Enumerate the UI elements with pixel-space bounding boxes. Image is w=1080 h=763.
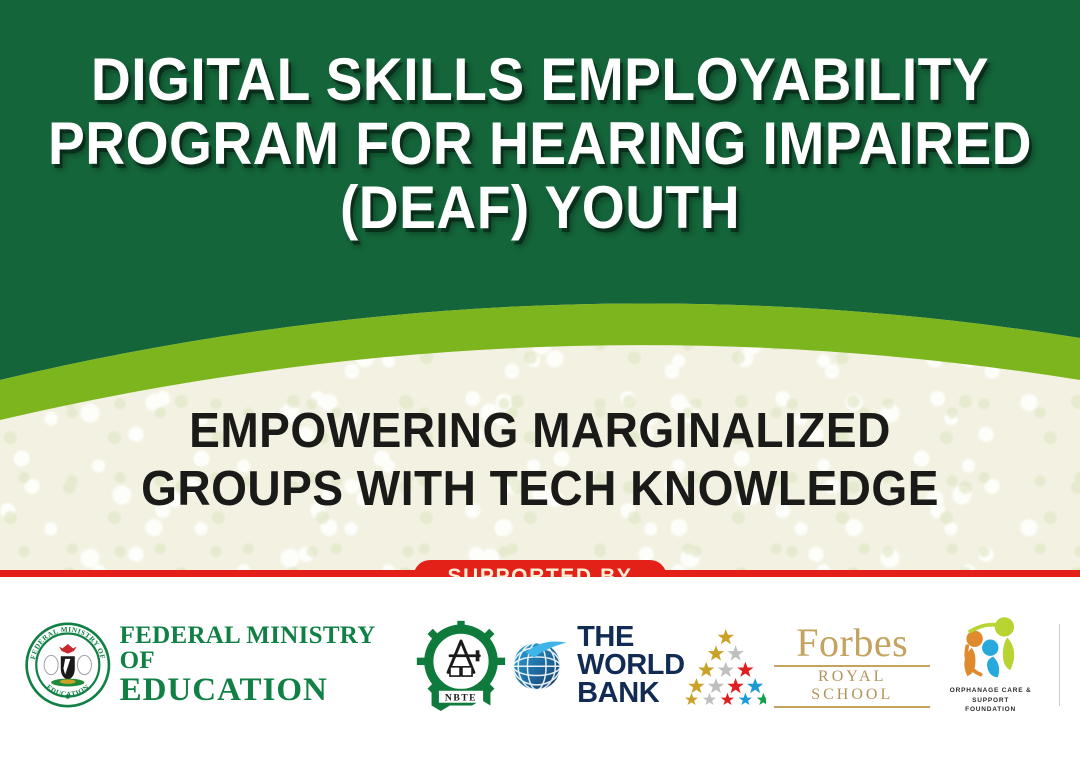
wb-line-1: THE <box>577 623 685 651</box>
subtitle-line-2: GROUPS WITH TECH KNOWLEDGE <box>32 460 1047 518</box>
sponsor-nbte[interactable]: NBTE <box>415 619 507 711</box>
world-bank-wordmark: THE WORLD BANK <box>577 623 685 707</box>
sponsor-logo-row: FEDERAL MINISTRY OF EDUCATION <box>24 615 1060 715</box>
fme-line-2: EDUCATION <box>120 674 416 708</box>
subtitle: EMPOWERING MARGINALIZED GROUPS WITH TECH… <box>32 402 1047 518</box>
nbte-label: NBTE <box>445 692 477 703</box>
sponsor-forbes-royal-school[interactable]: Forbes ROYAL SCHOOL <box>685 623 931 708</box>
sponsor-orphanage-care-support-foundation[interactable]: ORPHANAGE CARE & SUPPORT FOUNDATION <box>930 615 1060 715</box>
sponsor-footer: FEDERAL MINISTRY OF EDUCATION <box>0 577 1080 763</box>
nbte-gear-icon: NBTE <box>415 619 507 711</box>
federal-ministry-wordmark: FEDERAL MINISTRY OF EDUCATION <box>120 623 416 708</box>
page-title: DIGITAL SKILLS EMPLOYABILITY PROGRAM FOR… <box>43 48 1037 240</box>
federal-ministry-seal-icon: FEDERAL MINISTRY OF EDUCATION <box>24 621 112 709</box>
sponsor-the-world-bank[interactable]: THE WORLD BANK <box>507 623 685 707</box>
ocsf-wordmark: ORPHANAGE CARE & SUPPORT FOUNDATION <box>930 686 1051 715</box>
fme-line-1: FEDERAL MINISTRY OF <box>120 623 416 674</box>
forbes-star-triangle-icon <box>685 625 767 705</box>
subtitle-line-1: EMPOWERING MARGINALIZED <box>32 402 1047 460</box>
wb-line-2: WORLD <box>577 651 685 679</box>
title-line-3: (DEAF) YOUTH <box>43 176 1037 240</box>
curve-svg <box>0 260 1080 420</box>
wb-line-3: BANK <box>577 679 685 707</box>
title-line-1: DIGITAL SKILLS EMPLOYABILITY <box>43 48 1037 112</box>
curved-divider <box>0 260 1080 420</box>
sponsor-federal-ministry-of-education[interactable]: FEDERAL MINISTRY OF EDUCATION <box>24 621 415 709</box>
forbes-wordmark: Forbes ROYAL SCHOOL <box>774 623 930 708</box>
title-line-2: PROGRAM FOR HEARING IMPAIRED <box>43 112 1037 176</box>
forbes-name: Forbes <box>774 623 930 663</box>
ocsf-line-2: FOUNDATION <box>930 705 1051 715</box>
world-bank-globe-icon <box>507 634 569 696</box>
logo-divider <box>1059 624 1060 706</box>
event-banner: DIGITAL SKILLS EMPLOYABILITY PROGRAM FOR… <box>0 0 1080 763</box>
ocsf-line-1: ORPHANAGE CARE & SUPPORT <box>930 686 1051 706</box>
forbes-subtitle: ROYAL SCHOOL <box>774 665 930 708</box>
ocsf-people-icon <box>953 615 1029 679</box>
